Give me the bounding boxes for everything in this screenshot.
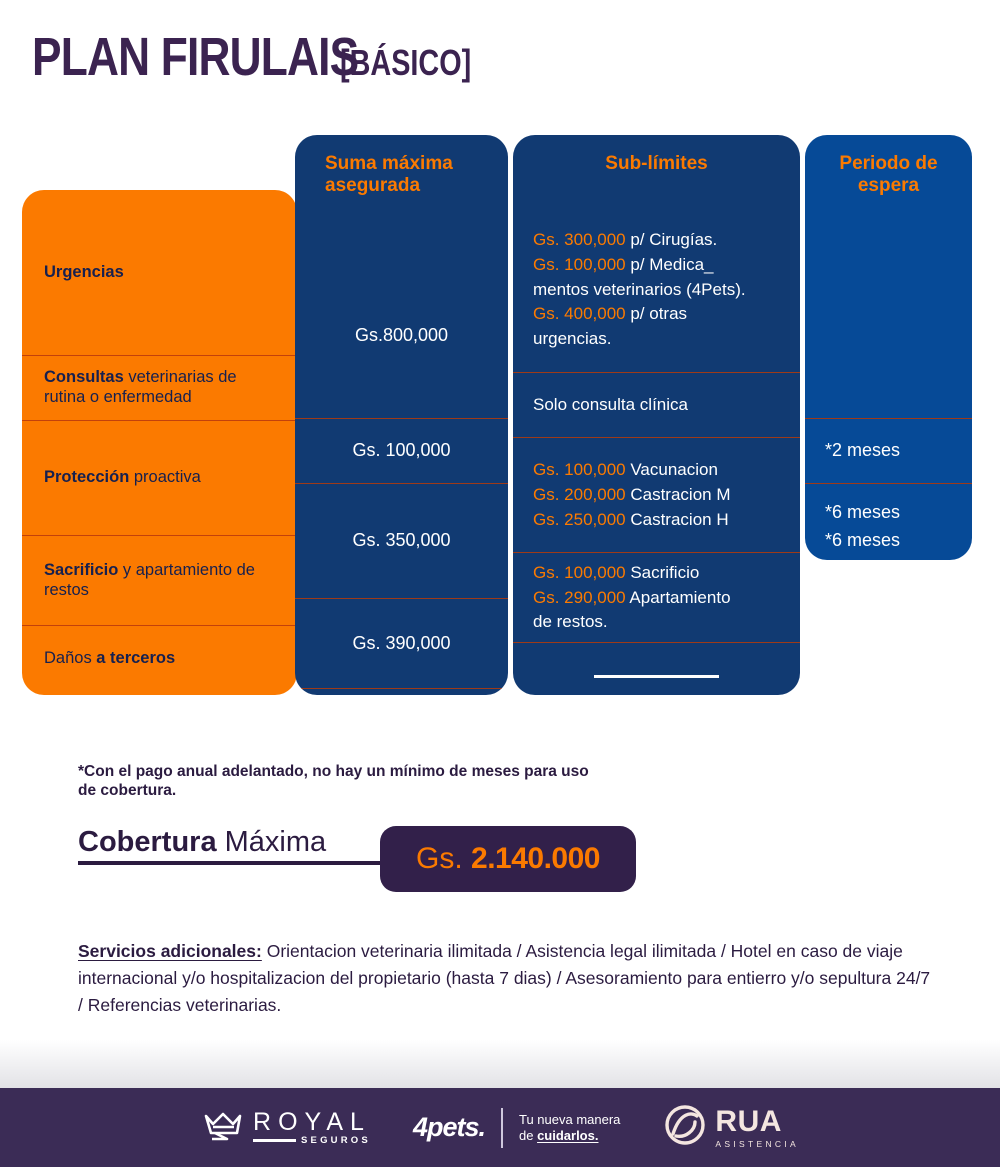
globe-swirl-icon — [662, 1102, 708, 1153]
suma-value: Gs. 100,000 — [295, 418, 508, 483]
benefit-label-rest: proactiva — [129, 468, 201, 486]
cobertura-underline — [78, 861, 414, 865]
column-periodo-espera: Periodo de espera *2 meses *6 meses *6 m… — [805, 135, 972, 560]
sublimit-amount: Gs. 300,000 — [533, 230, 626, 249]
divider — [501, 1108, 503, 1148]
cobertura-amount: 2.140.000 — [471, 842, 600, 876]
royal-sub: SEGUROS — [301, 1135, 371, 1146]
rua-name: RUA — [715, 1107, 782, 1137]
espera-value: *6 meses — [825, 555, 900, 560]
cobertura-currency: Gs. — [416, 842, 463, 876]
benefit-label-bold: Consultas — [44, 368, 124, 386]
servicios-adicionales: Servicios adicionales: Orientacion veter… — [78, 938, 938, 1019]
sublimit-amount: Gs. 290,000 — [533, 588, 626, 607]
benefit-label-rest: Daños — [44, 649, 96, 667]
espera-group: *2 meses — [805, 418, 972, 483]
benefit-label-bold: Sacrificio — [44, 561, 118, 579]
sublimit-amount: Gs. 250,000 — [533, 510, 626, 529]
suma-value: Gs.800,000 — [295, 253, 508, 418]
sublimit-group: Solo consulta clínica — [513, 372, 800, 437]
royal-seguros-logo: ROYAL SEGUROS — [201, 1103, 371, 1152]
rua-asistencia-logo: RUA ASISTENCIA — [662, 1102, 799, 1153]
sublimit-amount: Gs. 100,000 — [533, 460, 626, 479]
footer-fade — [0, 1040, 1000, 1088]
cobertura-label-bold: Cobertura — [78, 826, 217, 858]
sublimit-amount: Gs. 400,000 — [533, 304, 626, 323]
empty-value-dash — [594, 675, 719, 678]
suma-value: Gs. 500,000 — [295, 688, 508, 695]
espera-group — [805, 253, 972, 418]
sublimit-desc: mentos veterinarios (4Pets). — [533, 280, 746, 299]
sublimit-group: Gs. 100,000 Vacunacion Gs. 200,000 Castr… — [513, 437, 800, 552]
sublimit-desc: Vacunacion — [626, 460, 718, 479]
sublimit-desc: Apartamiento — [626, 588, 731, 607]
column-sublimites: Sub-límites Gs. 300,000 p/ Cirugías. Gs.… — [513, 135, 800, 695]
sublimit-amount: Gs. 200,000 — [533, 485, 626, 504]
column-suma-maxima: Suma máxima asegurada Gs.800,000 Gs. 100… — [295, 135, 508, 695]
table-row: Urgencias — [22, 190, 297, 355]
benefit-label-bold: Urgencias — [44, 263, 124, 281]
table-row: Daños a terceros — [22, 625, 297, 692]
sublimit-amount: Gs. 100,000 — [533, 255, 626, 274]
cobertura-label-rest: Máxima — [217, 826, 327, 858]
table-row: Consultas veterinarias de rutina o enfer… — [22, 355, 297, 420]
tagline-line2-plain: de — [519, 1128, 537, 1143]
benefit-label-bold: a terceros — [96, 649, 175, 667]
cobertura-maxima: Cobertura Máxima — [78, 826, 340, 865]
espera-value: *6 meses — [825, 499, 900, 527]
servicios-label: Servicios adicionales: — [78, 941, 262, 961]
cobertura-label: Cobertura Máxima — [78, 826, 340, 865]
sublimit-amount: Gs. 100,000 — [533, 563, 626, 582]
sublimit-group: Gs. 300,000 p/ Cirugías. Gs. 100,000 p/ … — [513, 207, 800, 372]
benefit-label-bold: Protección — [44, 468, 129, 486]
sublimit-group: Gs. 100,000 Sacrificio Gs. 290,000 Apart… — [513, 552, 800, 642]
sublimit-desc: Castracion H — [626, 510, 729, 529]
royal-rule — [253, 1139, 296, 1142]
sublimit-desc: p/ otras — [626, 304, 687, 323]
sublimit-desc: de restos. — [533, 612, 608, 631]
espera-group: *6 meses *6 meses *6 meses — [805, 483, 972, 560]
tagline-line2-strong: cuidarlos. — [537, 1128, 598, 1143]
sublimit-desc: p/ Medica_ — [626, 255, 714, 274]
column-header-suma: Suma máxima asegurada — [295, 135, 508, 198]
column-header-sublimites: Sub-límites — [513, 135, 800, 175]
rua-sub: ASISTENCIA — [715, 1139, 799, 1149]
suma-value: Gs. 350,000 — [295, 483, 508, 598]
sublimit-desc: Castracion M — [626, 485, 731, 504]
espera-value: *2 meses — [825, 437, 900, 465]
coverage-table: Urgencias Consultas veterinarias de ruti… — [0, 0, 1000, 720]
rua-wordmark: RUA ASISTENCIA — [715, 1107, 799, 1149]
espera-value: *6 meses — [825, 527, 900, 555]
tagline-line1: Tu nueva manera — [519, 1112, 620, 1128]
crown-icon — [201, 1103, 245, 1152]
table-row: Sacrificio y apartamiento de restos — [22, 535, 297, 625]
royal-wordmark: ROYAL SEGUROS — [253, 1110, 371, 1146]
sublimit-desc: urgencias. — [533, 329, 611, 348]
table-row: Protección proactiva — [22, 420, 297, 535]
sublimit-desc: p/ Cirugías. — [626, 230, 718, 249]
sublimit-group — [513, 642, 800, 695]
footnote: *Con el pago anual adelantado, no hay un… — [78, 762, 598, 801]
cobertura-amount-badge: Gs. 2.140.000 — [380, 826, 636, 892]
footer-bar: ROYAL SEGUROS 4pets. Tu nueva manera de … — [0, 1088, 1000, 1167]
fourpets-tagline: Tu nueva manera de cuidarlos. — [519, 1112, 620, 1143]
sublimit-desc: Sacrificio — [626, 563, 700, 582]
royal-name: ROYAL — [253, 1110, 371, 1135]
fourpets-wordmark: 4pets. — [413, 1114, 485, 1141]
sublimit-desc: Solo consulta clínica — [533, 395, 688, 414]
column-header-espera: Periodo de espera — [805, 135, 972, 198]
suma-value: Gs. 390,000 — [295, 598, 508, 688]
fourpets-logo: 4pets. Tu nueva manera de cuidarlos. — [413, 1108, 620, 1148]
column-benefits: Urgencias Consultas veterinarias de ruti… — [22, 190, 297, 695]
